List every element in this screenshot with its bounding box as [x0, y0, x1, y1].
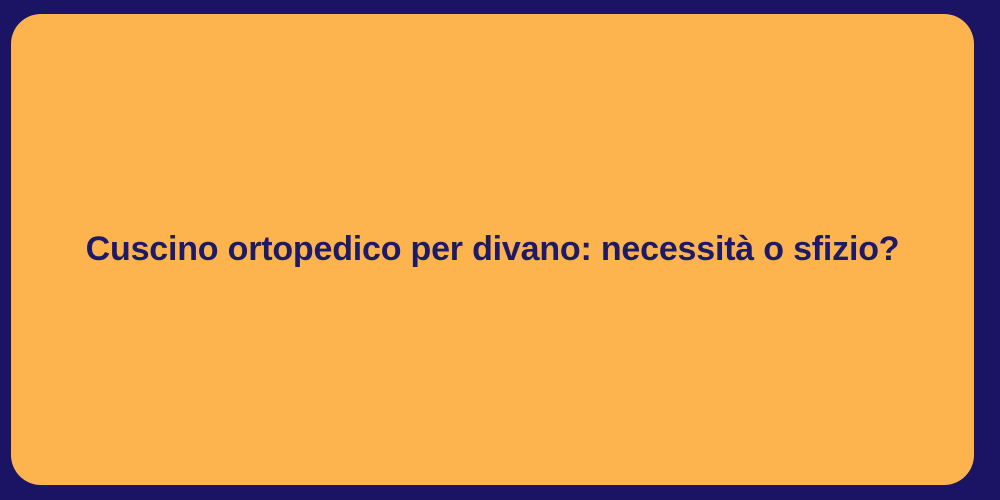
page-title: Cuscino ortopedico per divano: necessità… — [86, 228, 900, 271]
headline-container: Cuscino ortopedico per divano: necessità… — [11, 228, 974, 271]
page-root: Cuscino ortopedico per divano: necessità… — [0, 0, 1000, 500]
orange-content-card: Cuscino ortopedico per divano: necessità… — [11, 14, 974, 485]
